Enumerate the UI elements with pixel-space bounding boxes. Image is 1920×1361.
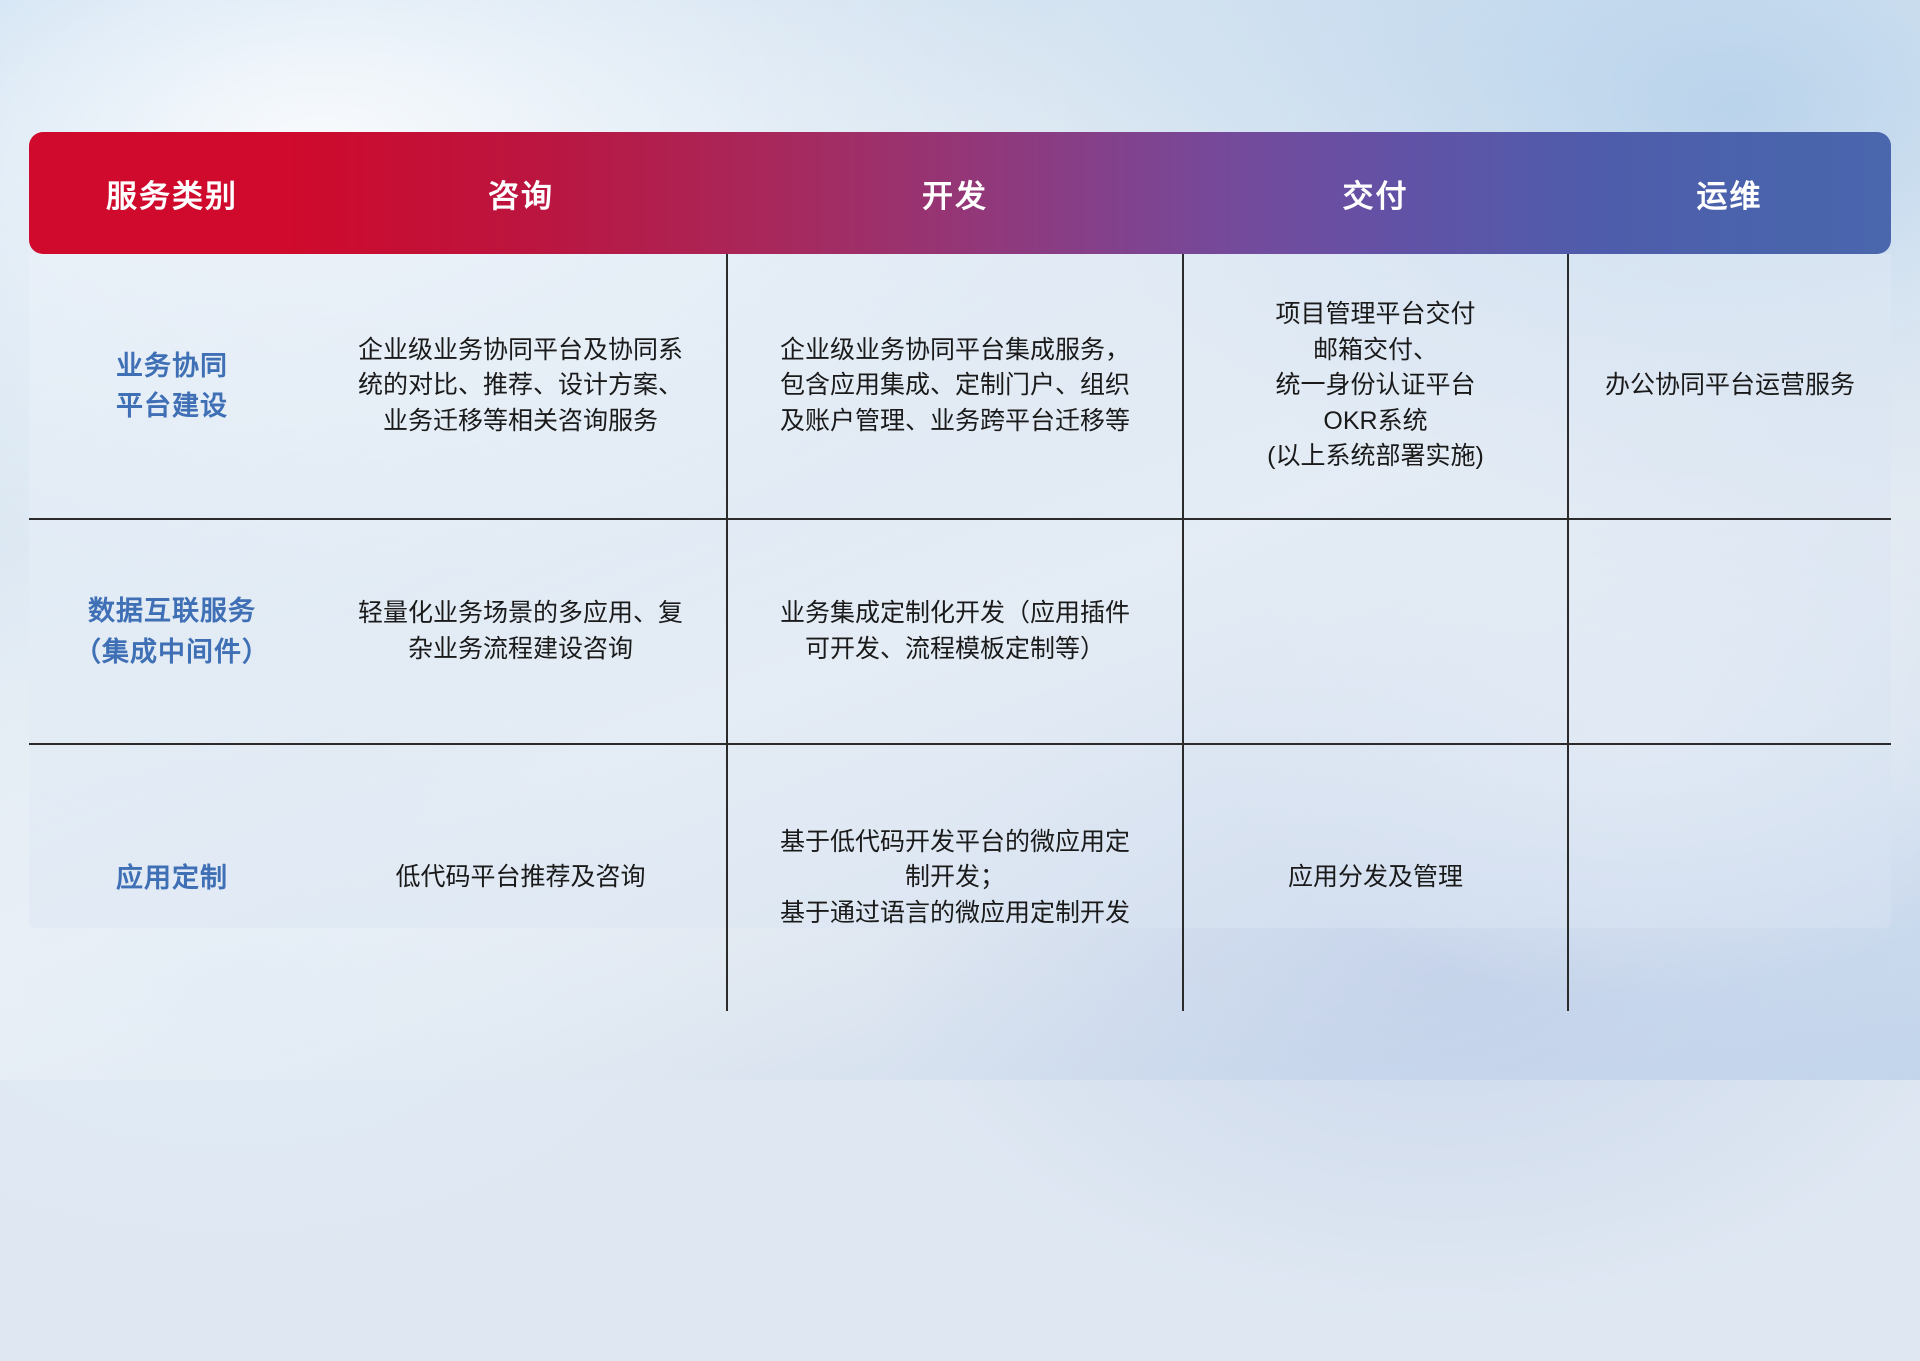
row-category-label: 数据互联服务 （集成中间件） (29, 519, 315, 744)
cell-operations (1568, 744, 1891, 1011)
column-header-delivery-label: 交付 (1343, 179, 1409, 214)
table-header: 服务类别 咨询 开发 交付 运维 (29, 132, 1891, 254)
column-header-operations: 运维 (1568, 132, 1891, 254)
column-header-development: 开发 (727, 132, 1183, 254)
table-row: 业务协同 平台建设 企业级业务协同平台及协同系 统的对比、推荐、设计方案、 业务… (29, 254, 1891, 519)
column-header-service-category-label: 服务类别 (106, 179, 238, 214)
column-header-delivery: 交付 (1183, 132, 1568, 254)
table-body: 业务协同 平台建设 企业级业务协同平台及协同系 统的对比、推荐、设计方案、 业务… (29, 254, 1891, 1011)
cell-delivery (1183, 519, 1568, 744)
row-category-label: 业务协同 平台建设 (29, 254, 315, 519)
column-header-service-category: 服务类别 (29, 132, 315, 254)
table-row: 应用定制 低代码平台推荐及咨询 基于低代码开发平台的微应用定 制开发； 基于通过… (29, 744, 1891, 1011)
cell-operations: 办公协同平台运营服务 (1568, 254, 1891, 519)
cell-development: 业务集成定制化开发（应用插件 可开发、流程模板定制等） (727, 519, 1183, 744)
cell-development: 基于低代码开发平台的微应用定 制开发； 基于通过语言的微应用定制开发 (727, 744, 1183, 1011)
column-header-development-label: 开发 (922, 179, 988, 214)
column-header-operations-label: 运维 (1697, 179, 1763, 214)
cell-operations (1568, 519, 1891, 744)
table-row: 数据互联服务 （集成中间件） 轻量化业务场景的多应用、复 杂业务流程建设咨询 业… (29, 519, 1891, 744)
table-header-row: 服务类别 咨询 开发 交付 运维 (29, 132, 1891, 254)
cell-consulting: 轻量化业务场景的多应用、复 杂业务流程建设咨询 (315, 519, 727, 744)
column-header-consulting: 咨询 (315, 132, 727, 254)
cell-consulting: 低代码平台推荐及咨询 (315, 744, 727, 1011)
cell-consulting: 企业级业务协同平台及协同系 统的对比、推荐、设计方案、 业务迁移等相关咨询服务 (315, 254, 727, 519)
cell-development: 企业级业务协同平台集成服务， 包含应用集成、定制门户、组织 及账户管理、业务跨平… (727, 254, 1183, 519)
cell-delivery: 应用分发及管理 (1183, 744, 1568, 1011)
row-category-label: 应用定制 (29, 744, 315, 1011)
cell-delivery: 项目管理平台交付 邮箱交付、 统一身份认证平台 OKR系统 (以上系统部署实施) (1183, 254, 1568, 519)
service-matrix-container: 服务类别 咨询 开发 交付 运维 业务协同 平台建设 企业级业务协同平台及协同系… (29, 132, 1891, 1011)
service-matrix-table: 服务类别 咨询 开发 交付 运维 业务协同 平台建设 企业级业务协同平台及协同系… (29, 132, 1891, 1011)
column-header-consulting-label: 咨询 (488, 179, 554, 214)
